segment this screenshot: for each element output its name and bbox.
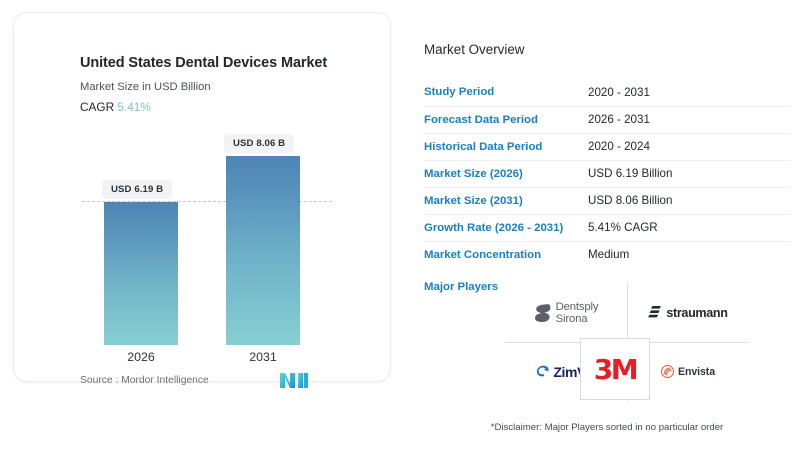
overview-title: Market Overview — [424, 42, 790, 57]
overview-table: Study Period 2020 - 2031 Forecast Data P… — [424, 79, 790, 268]
row-value-forecast-data-period: 2026 - 2031 — [588, 106, 790, 133]
bar-chart-plot: USD 6.19 B USD 8.06 B 2026 2031 — [14, 13, 392, 383]
player-cell-3m[interactable]: 3M — [580, 338, 650, 400]
player-cell-dentsply-sirona[interactable]: Dentsply Sirona — [505, 283, 627, 342]
row-value-market-concentration: Medium — [588, 241, 790, 268]
chart-card: United States Dental Devices Market Mark… — [13, 12, 391, 382]
source-text: Source : Mordor Intelligence — [80, 375, 209, 386]
table-row: Market Size (2026) USD 6.19 Billion — [424, 160, 790, 187]
row-key-forecast-data-period: Forecast Data Period — [424, 106, 588, 133]
row-key-growth-rate: Growth Rate (2026 - 2031) — [424, 214, 588, 241]
bar-value-label-2031: USD 8.06 B — [224, 134, 294, 153]
table-row: Forecast Data Period 2026 - 2031 — [424, 106, 790, 133]
x-axis-tick-2031: 2031 — [226, 350, 300, 364]
dentsply-sirona-wordmark: Dentsply Sirona — [556, 301, 599, 325]
table-row: Market Concentration Medium — [424, 241, 790, 268]
table-row: Historical Data Period 2020 - 2024 — [424, 133, 790, 160]
row-key-study-period: Study Period — [424, 79, 588, 106]
dentsply-line1: Dentsply — [556, 301, 599, 313]
bar-value-label-2026: USD 6.19 B — [102, 180, 172, 199]
straumann-wordmark: straumann — [666, 306, 727, 320]
straumann-logo: straumann — [648, 305, 727, 320]
row-key-historical-data-period: Historical Data Period — [424, 133, 588, 160]
row-value-growth-rate: 5.41% CAGR — [588, 214, 790, 241]
bar-2026[interactable] — [104, 202, 178, 345]
player-cell-straumann[interactable]: straumann — [627, 283, 749, 342]
table-row: Growth Rate (2026 - 2031) 5.41% CAGR — [424, 214, 790, 241]
straumann-stripes-icon — [648, 305, 662, 320]
table-row: Market Size (2031) USD 8.06 Billion — [424, 187, 790, 214]
envista-circle-icon — [661, 365, 674, 378]
mordor-intelligence-logo-icon — [279, 371, 309, 389]
major-players-label: Major Players — [424, 281, 498, 293]
table-row: Study Period 2020 - 2031 — [424, 79, 790, 106]
envista-wordmark: Envista — [678, 366, 715, 378]
row-value-historical-data-period: 2020 - 2024 — [588, 133, 790, 160]
zimvie-circular-arrow-icon — [535, 364, 550, 379]
3m-wordmark: 3M — [594, 353, 637, 386]
row-key-market-size-2026: Market Size (2026) — [424, 160, 588, 187]
players-disclaimer: *Disclaimer: Major Players sorted in no … — [424, 422, 790, 433]
row-value-study-period: 2020 - 2031 — [588, 79, 790, 106]
dentsply-leaf-icon — [534, 303, 551, 323]
market-overview-panel: Market Overview Study Period 2020 - 2031… — [424, 42, 790, 268]
row-value-market-size-2026: USD 6.19 Billion — [588, 160, 790, 187]
row-key-market-concentration: Market Concentration — [424, 241, 588, 268]
row-value-market-size-2031: USD 8.06 Billion — [588, 187, 790, 214]
row-key-market-size-2031: Market Size (2031) — [424, 187, 588, 214]
dentsply-sirona-logo: Dentsply Sirona — [534, 301, 599, 325]
envista-logo: Envista — [661, 365, 715, 378]
dentsply-line2: Sirona — [556, 313, 599, 325]
bars-container — [14, 13, 392, 383]
market-snapshot-page: United States Dental Devices Market Mark… — [0, 0, 800, 459]
x-axis-tick-2026: 2026 — [104, 350, 178, 364]
bar-2031[interactable] — [226, 156, 300, 345]
